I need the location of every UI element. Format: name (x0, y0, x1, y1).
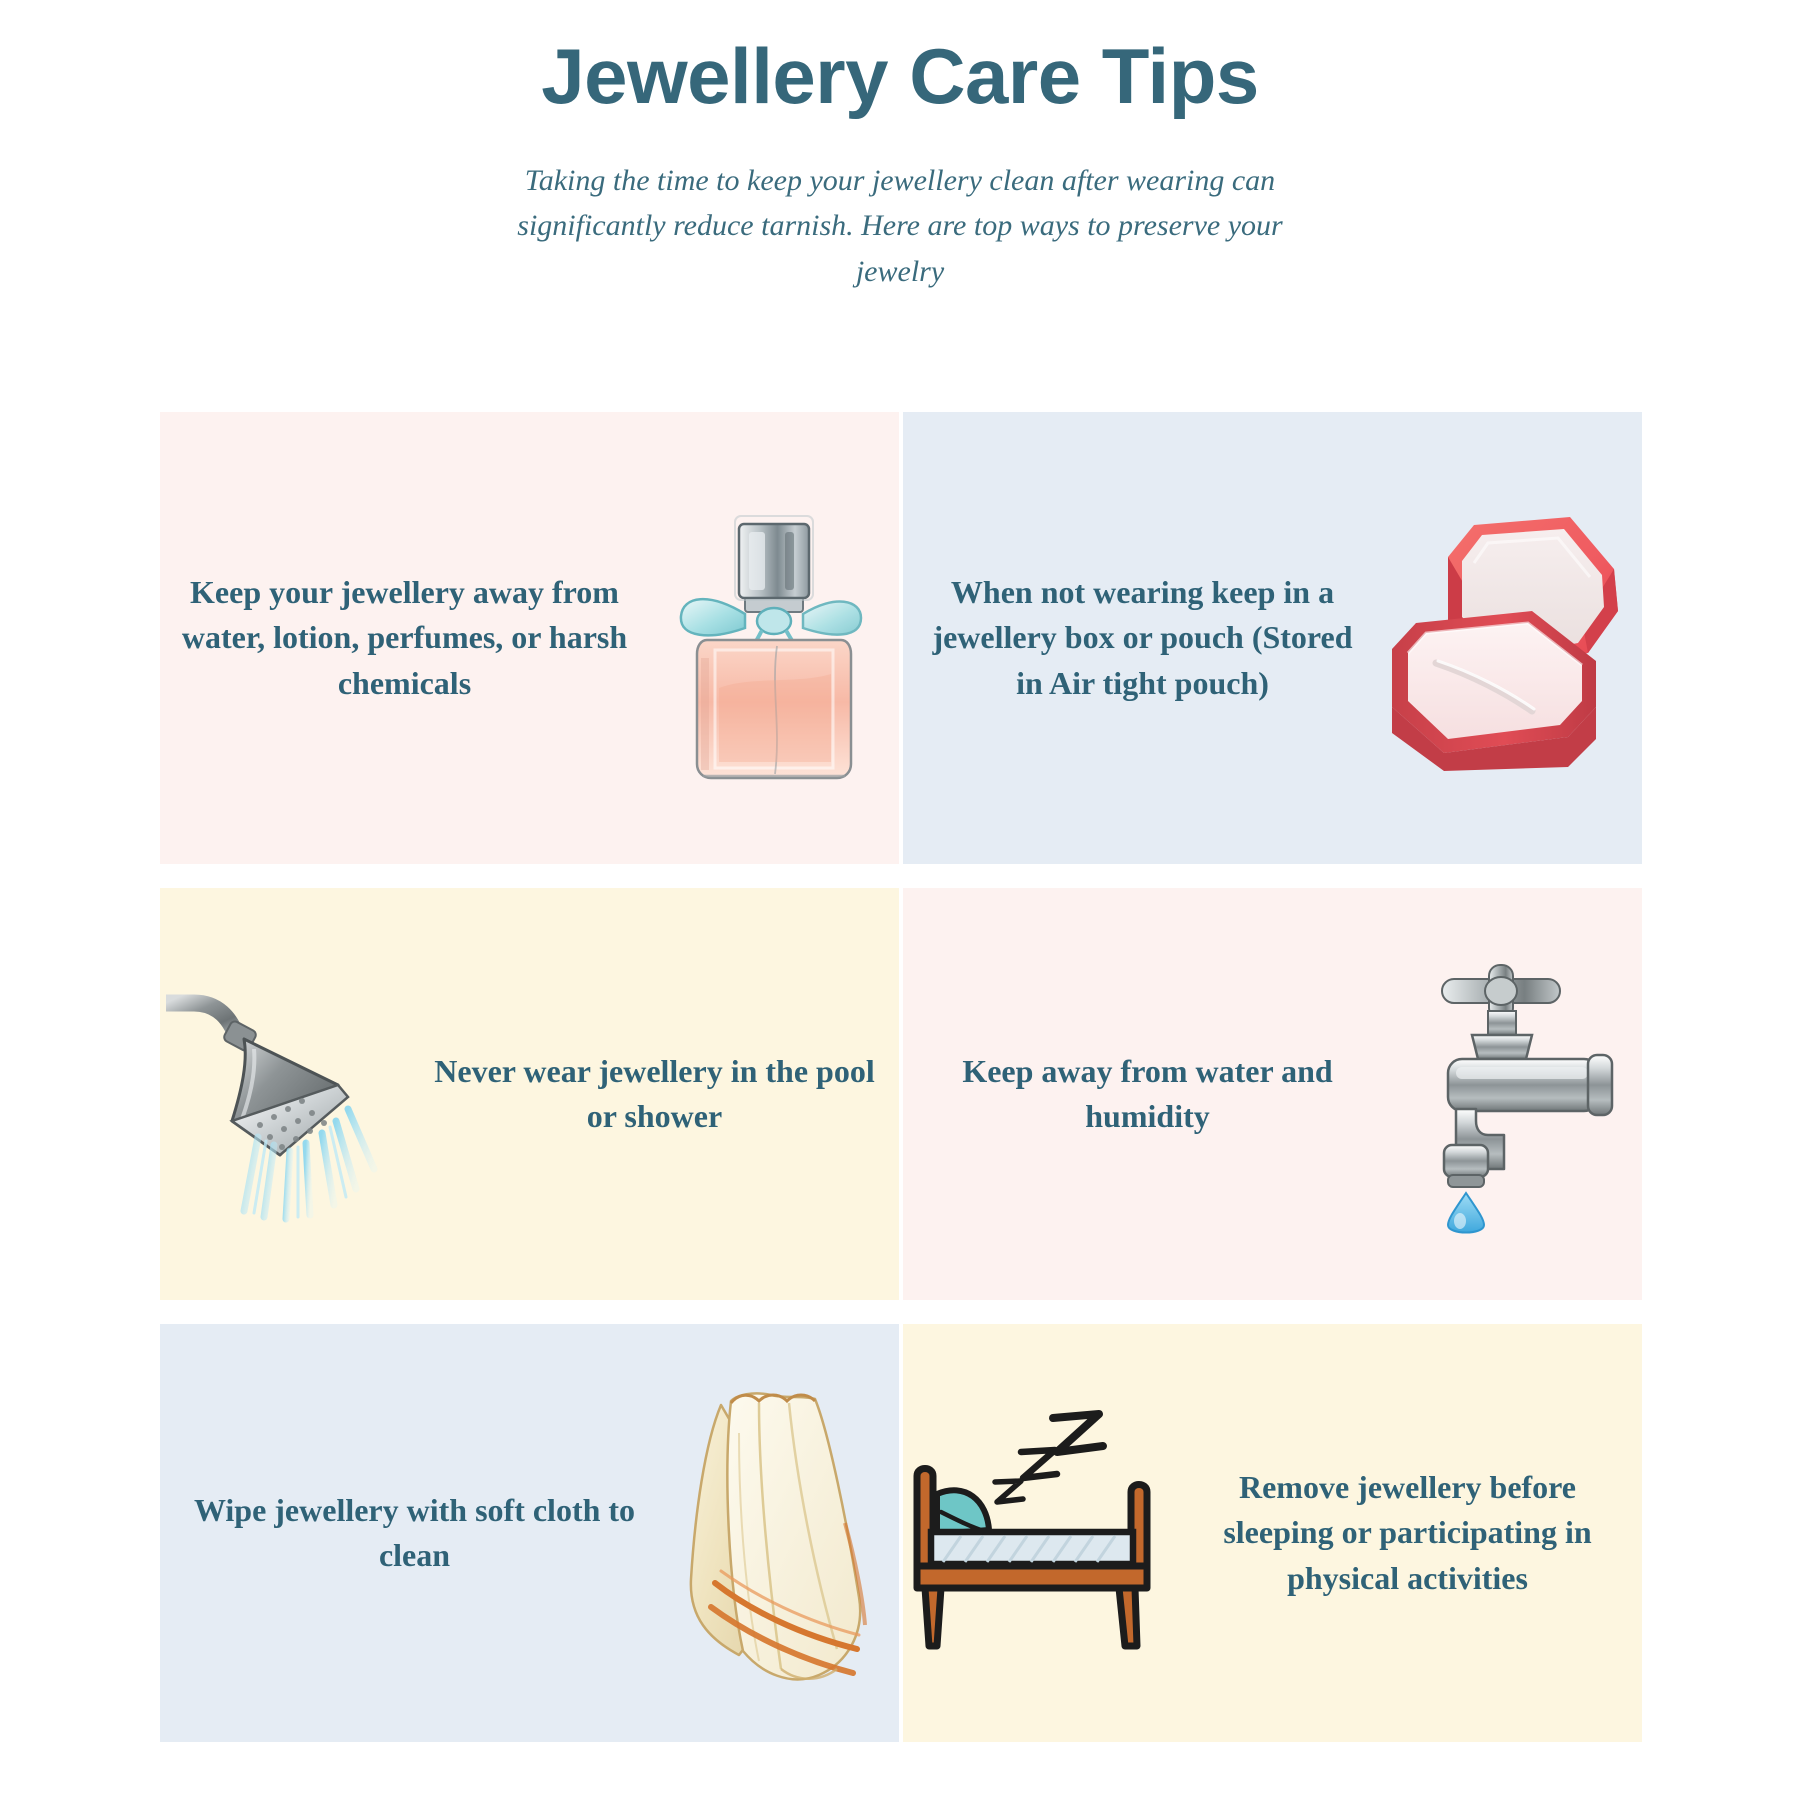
tip-card-soft-cloth-text: Wipe jewellery with soft cloth to clean (160, 1488, 669, 1579)
header: Jewellery Care Tips Taking the time to k… (0, 0, 1800, 294)
tip-card-sleeping[interactable]: Remove jewellery before sleeping or part… (903, 1324, 1642, 1742)
tip-card-pool-shower[interactable]: Never wear jewellery in the pool or show… (160, 888, 899, 1300)
tip-card-storage-art (1382, 503, 1642, 773)
tip-card-storage-text: When not wearing keep in a jewellery box… (903, 570, 1382, 706)
tip-card-chemicals-text: Keep your jewellery away from water, lot… (160, 570, 649, 706)
tip-card-sleeping-text: Remove jewellery before sleeping or part… (1173, 1465, 1642, 1601)
tip-card-pool-shower-text: Never wear jewellery in the pool or show… (410, 1049, 899, 1140)
tip-card-chemicals[interactable]: Keep your jewellery away from water, lot… (160, 412, 899, 864)
faucet-icon (1392, 959, 1642, 1229)
page-subtitle: Taking the time to keep your jewellery c… (500, 158, 1300, 295)
tip-card-storage[interactable]: When not wearing keep in a jewellery box… (903, 412, 1642, 864)
infographic-page: Jewellery Care Tips Taking the time to k… (0, 0, 1800, 1800)
tips-grid: Keep your jewellery away from water, lot… (160, 412, 1641, 1742)
page-title: Jewellery Care Tips (0, 32, 1800, 122)
tip-card-water-humidity[interactable]: Keep away from water and humidity (903, 888, 1642, 1300)
bed-sleeping-icon (903, 1408, 1173, 1658)
ring-box-icon (1382, 503, 1642, 773)
shower-head-icon (160, 969, 410, 1219)
polishing-cloth-icon (669, 1373, 899, 1693)
tip-card-sleeping-art (903, 1408, 1173, 1658)
tip-card-water-humidity-art (1392, 959, 1642, 1229)
tip-card-chemicals-art (649, 488, 899, 788)
tip-card-soft-cloth-art (669, 1373, 899, 1693)
tip-card-pool-shower-art (160, 969, 410, 1219)
perfume-bottle-icon (649, 488, 899, 788)
tip-card-soft-cloth[interactable]: Wipe jewellery with soft cloth to clean (160, 1324, 899, 1742)
tip-card-water-humidity-text: Keep away from water and humidity (903, 1049, 1392, 1140)
